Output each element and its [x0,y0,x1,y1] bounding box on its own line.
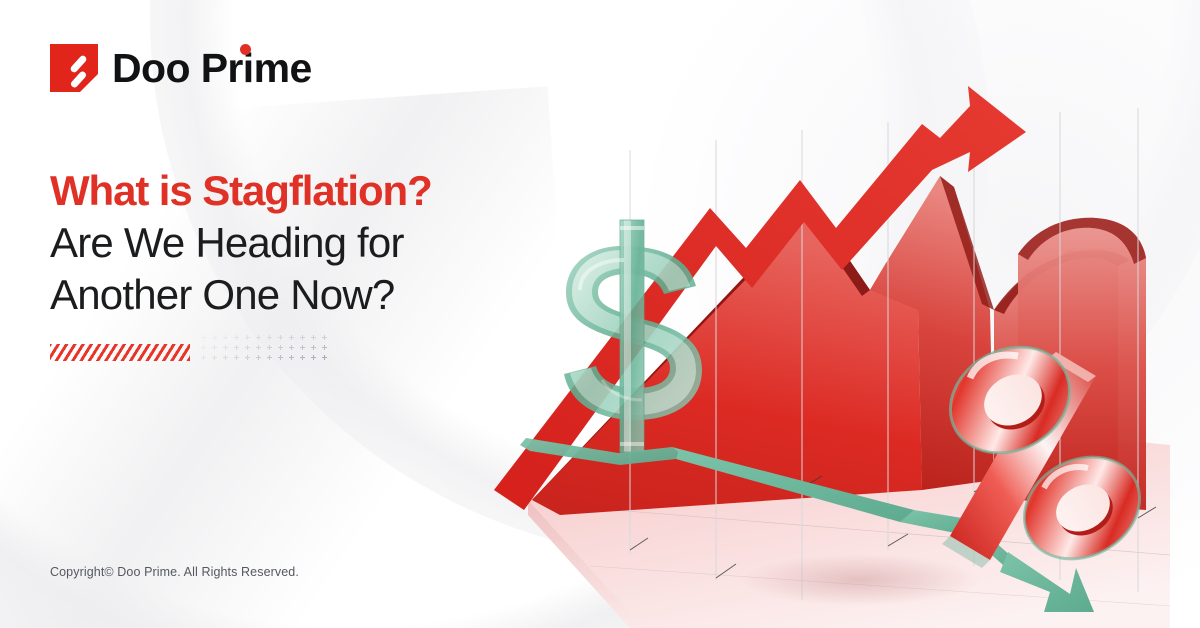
plus-icon [234,355,239,360]
dot-grid-cell [319,332,330,342]
plus-icon [322,345,327,350]
plus-icon [223,335,228,340]
plus-icon [256,335,261,340]
brand-logo[interactable]: Doo Prime [50,44,312,92]
dot-grid-row [198,352,330,362]
banner-canvas: Doo Prime What is Stagflation? Are We He… [0,0,1200,628]
headline-line-3: Another One Now? [50,269,570,321]
dot-grid-row [198,332,330,342]
plus-icon [223,355,228,360]
dot-grid-cell [198,352,209,362]
dot-grid-cell [209,332,220,342]
stagflation-illustration [470,60,1170,628]
dot-grid-cell [242,332,253,342]
diagonal-stripe-bar [50,344,190,361]
dot-grid-cell [231,332,242,342]
dot-grid-cell [198,332,209,342]
plus-icon [201,355,206,360]
dot-grid-cell [264,332,275,342]
plus-icon [322,335,327,340]
dot-grid-cell [297,352,308,362]
plus-icon [311,345,316,350]
logo-accent-dot [240,44,251,55]
dot-grid-cell [220,342,231,352]
dot-grid-cell [275,352,286,362]
plus-icon [234,345,239,350]
plus-icon [245,335,250,340]
dot-grid-cell [220,352,231,362]
plus-dot-grid [198,332,330,364]
headline-decoration [50,332,330,368]
dot-grid-cell [253,332,264,342]
plus-icon [278,335,283,340]
dot-grid-cell [319,352,330,362]
plus-icon [278,355,283,360]
plus-icon [256,345,261,350]
dot-grid-cell [286,342,297,352]
plus-icon [245,345,250,350]
plus-icon [289,355,294,360]
plus-icon [267,335,272,340]
brand-name: Doo Prime [112,48,312,89]
dot-grid-cell [275,342,286,352]
plus-icon [289,345,294,350]
plus-icon [311,335,316,340]
dot-grid-cell [286,332,297,342]
dot-grid-cell [286,352,297,362]
headline-line-2: Are We Heading for [50,217,570,269]
dot-grid-cell [264,342,275,352]
plus-icon [278,345,283,350]
plus-icon [212,335,217,340]
dot-grid-cell [275,332,286,342]
dot-grid-row [198,342,330,352]
plus-icon [267,355,272,360]
dot-grid-cell [253,352,264,362]
plus-icon [311,355,316,360]
dot-grid-cell [231,352,242,362]
dot-grid-cell [264,352,275,362]
dot-grid-cell [242,352,253,362]
plus-icon [201,335,206,340]
copyright-text: Copyright© Doo Prime. All Rights Reserve… [50,565,299,579]
dot-grid-cell [308,352,319,362]
plus-icon [322,355,327,360]
dot-grid-cell [297,332,308,342]
dot-grid-cell [308,342,319,352]
plus-icon [234,335,239,340]
dot-grid-cell [253,342,264,352]
headline-line-1: What is Stagflation? [50,165,570,217]
plus-icon [300,345,305,350]
plus-icon [212,355,217,360]
dot-grid-cell [242,342,253,352]
headline-block: What is Stagflation? Are We Heading for … [50,165,570,321]
plus-icon [256,355,261,360]
dot-grid-cell [308,332,319,342]
plus-icon [245,355,250,360]
plus-icon [201,345,206,350]
dot-grid-cell [297,342,308,352]
plus-icon [289,335,294,340]
plus-icon [212,345,217,350]
dot-grid-cell [209,352,220,362]
brand-name-text: Doo Prime [112,45,312,91]
dot-grid-cell [231,342,242,352]
dot-grid-cell [209,342,220,352]
doo-prime-mark-icon [50,44,98,92]
plus-icon [267,345,272,350]
dot-grid-cell [220,332,231,342]
dot-grid-cell [198,342,209,352]
dot-grid-cell [319,342,330,352]
plus-icon [300,335,305,340]
plus-icon [300,355,305,360]
plus-icon [223,345,228,350]
